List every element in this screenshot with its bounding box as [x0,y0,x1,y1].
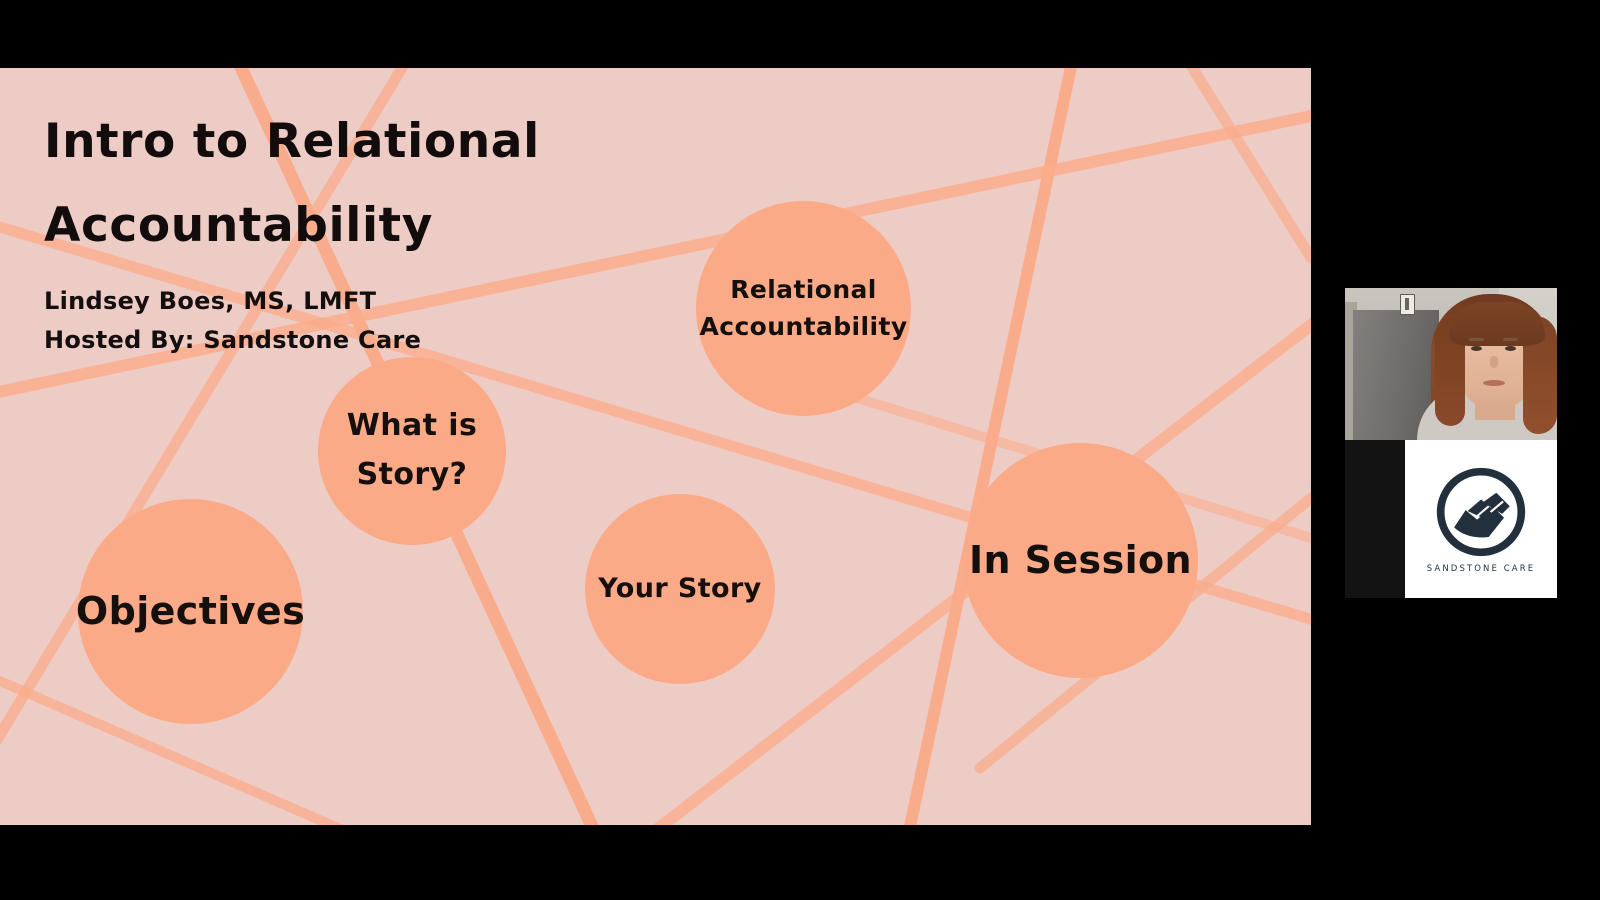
host-line: Hosted By: Sandstone Care [44,326,684,354]
presenter-name: Lindsey Boes, MS, LMFT [44,287,684,315]
participant-panel: SANDSTONE CARE [1345,288,1557,598]
bubble-label: Objectives [76,584,305,639]
mountain-circle-icon [1433,464,1529,560]
shared-slide: Intro to Relational Accountability Linds… [0,68,1311,825]
page-title: Intro to Relational Accountability [44,100,684,267]
bubble-in-session: In Session [963,443,1198,678]
bubble-label: Your Story [598,569,761,608]
speaker-hair-front [1449,302,1545,346]
speaker-eye-left [1471,346,1482,351]
bubble-your-story: Your Story [585,494,775,684]
organization-name: SANDSTONE CARE [1427,564,1535,574]
speaker-mouth [1483,380,1505,386]
bubble-relational-accountability: Relational Accountability [696,201,911,416]
organization-logo-tile[interactable]: SANDSTONE CARE [1405,440,1557,598]
bubble-objectives: Objectives [78,499,303,724]
speaker-eyebrow-right [1503,338,1518,341]
speaker-nose [1490,356,1498,368]
speaker-eye-right [1505,346,1516,351]
panel-filler [1345,440,1405,598]
bubble-label: Relational Accountability [699,272,907,345]
slide-title-block: Intro to Relational Accountability Linds… [44,100,684,354]
bubble-what-is-story: What is Story? [318,357,506,545]
speaker-video-tile[interactable] [1345,288,1557,440]
light-switch-icon [1400,294,1415,315]
bubble-label: What is Story? [347,402,477,499]
speaker-eyebrow-left [1469,338,1484,341]
meeting-stage: Intro to Relational Accountability Linds… [0,0,1600,900]
bubble-label: In Session [963,533,1198,588]
